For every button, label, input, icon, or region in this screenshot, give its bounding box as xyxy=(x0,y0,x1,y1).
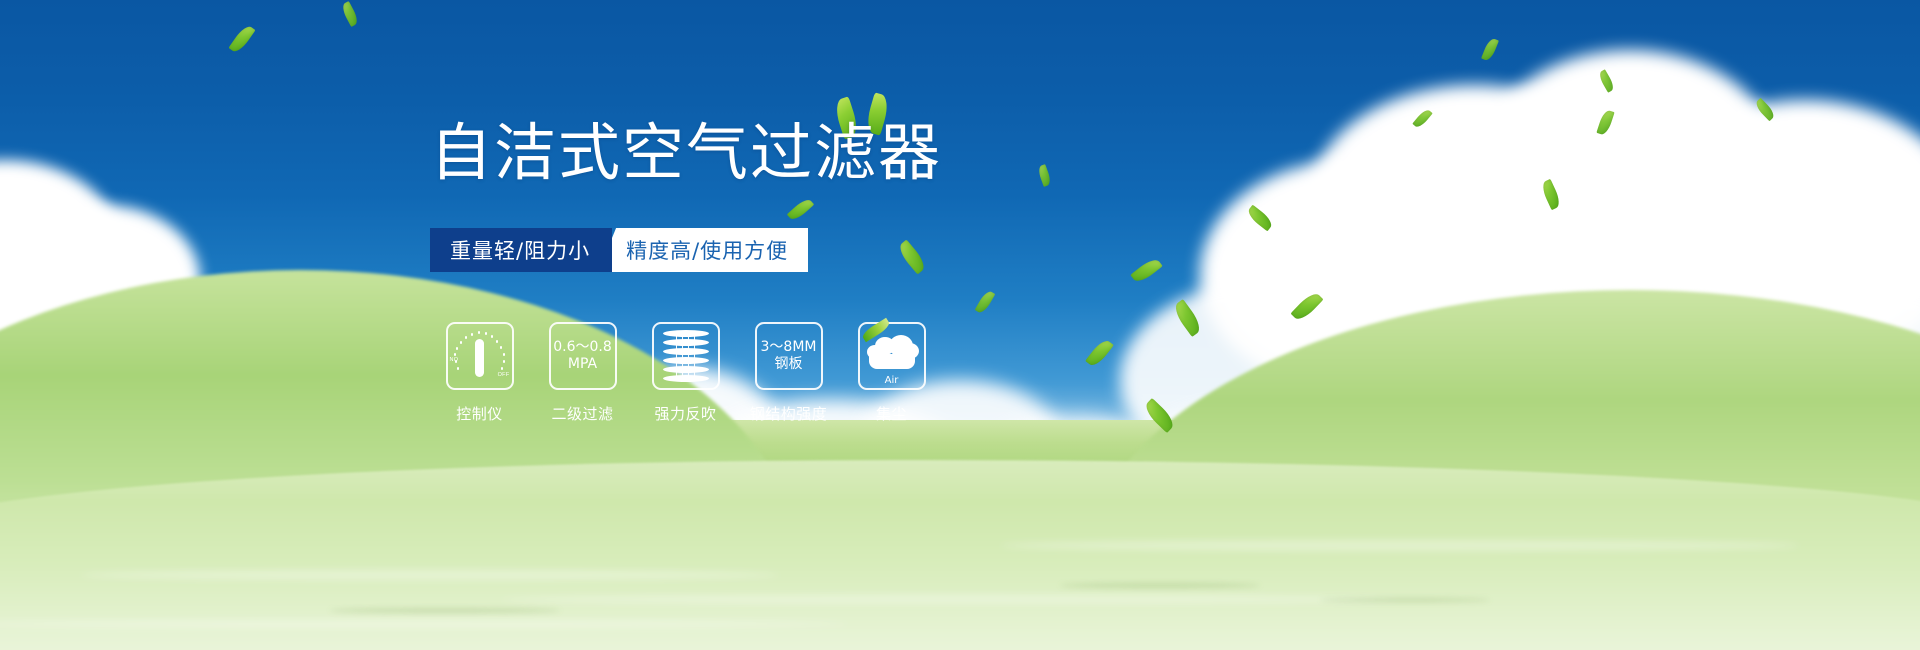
gauge-label-off: OFF xyxy=(498,372,510,378)
page-title: 自洁式空气过滤器 xyxy=(430,122,942,184)
gauge-icon: NO OFF xyxy=(450,327,510,385)
gauge-label-no: NO xyxy=(450,357,459,363)
pressure-range: 0.6〜0.8 xyxy=(553,339,612,357)
feature-label: 钢结构强度 xyxy=(750,403,828,424)
feature-label: 控制仪 xyxy=(456,403,503,424)
feature-item[interactable]: NO OFF 控制仪 xyxy=(428,322,531,424)
feature-icon-box: 3〜8MM 钢板 xyxy=(755,322,823,390)
steel-material: 钢板 xyxy=(761,356,817,374)
feature-label: 强力反吹 xyxy=(654,403,716,424)
feature-list: NO OFF 控制仪 0.6〜0.8 MPA 二级过滤 xyxy=(428,322,943,424)
coil-icon xyxy=(663,330,709,382)
banner-right-text: 精度高/使用方便 xyxy=(598,228,808,272)
feature-icon-box: 0.6〜0.8 MPA xyxy=(549,322,617,390)
air-caption: Air xyxy=(863,375,921,386)
feature-item[interactable]: 强力反吹 xyxy=(634,322,737,424)
feature-icon-box xyxy=(652,322,720,390)
pressure-unit: MPA xyxy=(553,356,612,374)
feature-icon-box: Air xyxy=(858,322,926,390)
steel-plate-icon: 3〜8MM 钢板 xyxy=(761,339,817,374)
hero-banner: 自洁式空气过滤器 重量轻/阻力小 精度高/使用方便 xyxy=(0,0,1920,650)
feature-item[interactable]: 3〜8MM 钢板 钢结构强度 xyxy=(737,322,840,424)
subtitle-banner: 重量轻/阻力小 精度高/使用方便 xyxy=(430,228,808,272)
pressure-icon: 0.6〜0.8 MPA xyxy=(553,339,612,374)
feature-item[interactable]: Air 集尘 xyxy=(840,322,943,424)
gauge-needle xyxy=(475,339,484,377)
feature-label: 集尘 xyxy=(876,403,907,424)
feature-icon-box: NO OFF xyxy=(446,322,514,390)
air-cloud-icon: Air xyxy=(863,329,921,383)
banner-left-text: 重量轻/阻力小 xyxy=(430,228,612,272)
steel-thickness: 3〜8MM xyxy=(761,339,817,357)
feature-item[interactable]: 0.6〜0.8 MPA 二级过滤 xyxy=(531,322,634,424)
feature-label: 二级过滤 xyxy=(551,403,613,424)
